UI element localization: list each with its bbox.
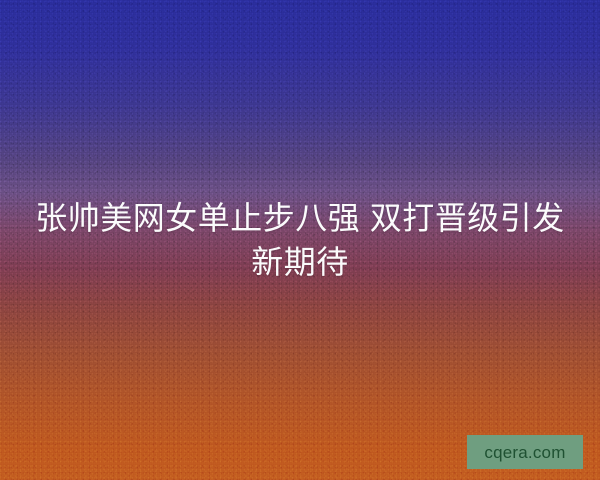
watermark-label: cqera.com xyxy=(484,444,565,461)
headline-text: 张帅美网女单止步八强 双打晋级引发新期待 xyxy=(30,196,570,284)
cover-image: 张帅美网女单止步八强 双打晋级引发新期待 cqera.com xyxy=(0,0,600,480)
watermark-badge: cqera.com xyxy=(467,435,583,469)
